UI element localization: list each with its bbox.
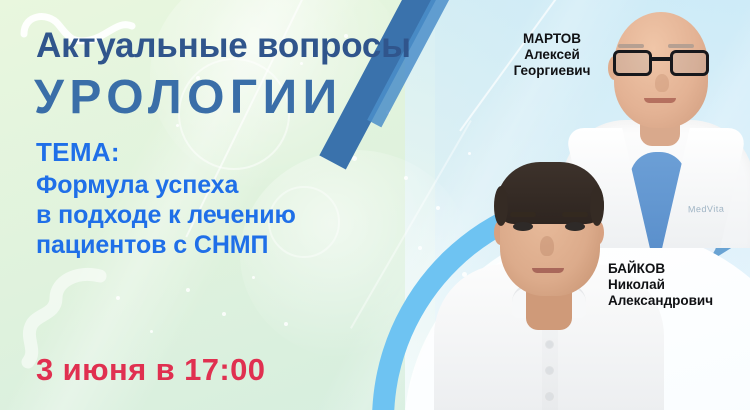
event-date-time: 3 июня в 17:00 <box>36 352 265 388</box>
speaker-patronymic: Георгиевич <box>493 63 611 79</box>
dot <box>150 330 153 333</box>
topic-text: Формула успеха в подходе к лечению пацие… <box>36 170 296 260</box>
topic-line: Формула успеха <box>36 170 296 200</box>
shirt-button <box>546 393 553 400</box>
lens-right <box>670 50 709 76</box>
speaker-first-name: Николай <box>608 277 748 293</box>
nose <box>540 236 554 256</box>
eyebrow-right <box>668 44 694 48</box>
eyebrow-left <box>618 44 644 48</box>
coat-badge-text: MedVita <box>688 204 725 215</box>
dot <box>222 312 226 316</box>
eyebrow-right <box>562 212 588 217</box>
speaker-surname: БАЙКОВ <box>608 261 748 277</box>
topic-line: пациентов с СНМП <box>36 230 296 260</box>
eyebrow-left <box>510 212 536 217</box>
topic-label: ТЕМА: <box>36 137 120 168</box>
speaker-patronymic: Александрович <box>608 293 748 309</box>
lens-left <box>613 50 652 76</box>
speaker-name-baykov: БАЙКОВ Николай Александрович <box>608 261 748 309</box>
speaker-surname: МАРТОВ <box>493 31 611 47</box>
shirt-button <box>546 341 553 348</box>
dot <box>116 296 120 300</box>
eye-right <box>565 222 585 231</box>
dot <box>404 176 408 180</box>
dot <box>252 276 255 279</box>
eyeglasses <box>612 50 710 76</box>
banner-title-line-2: УРОЛОГИИ <box>34 70 343 125</box>
dot <box>284 322 288 326</box>
eye-left <box>513 222 533 231</box>
sideburn-right <box>590 186 604 226</box>
shirt-button <box>546 367 553 374</box>
dot <box>418 246 422 250</box>
speaker-first-name: Алексей <box>493 47 611 63</box>
webinar-banner: MedVita Актуальные вопросы УРОЛОГИИ ТЕМА… <box>0 0 750 410</box>
mouth <box>532 268 564 273</box>
dot <box>186 288 190 292</box>
topic-line: в подходе к лечению <box>36 200 296 230</box>
mouth <box>644 98 676 103</box>
banner-title-line-1: Актуальные вопросы <box>36 26 411 66</box>
sideburn-left <box>494 186 508 226</box>
glasses-bridge <box>652 57 670 61</box>
nose <box>655 74 669 92</box>
speaker-name-martov: МАРТОВ Алексей Георгиевич <box>493 31 611 79</box>
dot <box>352 156 357 161</box>
